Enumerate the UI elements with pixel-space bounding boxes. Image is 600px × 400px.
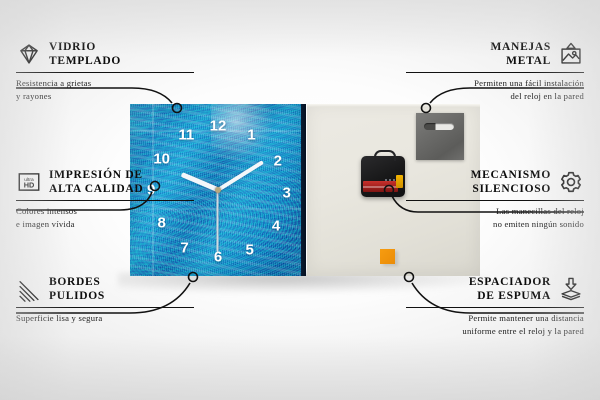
clock-numeral-3: 3 [282, 186, 290, 201]
desc-line-2: uniforme entre el reloj y la pared [406, 325, 584, 337]
aa-battery [363, 181, 397, 192]
battery-terminal [396, 175, 403, 188]
callout-manejas-metal: MANEJAS METAL Permiten una fácil instala… [406, 40, 584, 102]
diagonal-lines-icon [16, 276, 42, 302]
battery-stripe [363, 186, 397, 188]
divider [16, 72, 194, 73]
clock-numeral-12: 12 [210, 119, 227, 134]
back-panel-top-edge [307, 104, 480, 107]
title-line-2: PULIDOS [49, 289, 105, 303]
callout-title: BORDES PULIDOS [49, 275, 105, 303]
desc-line-1: Permiten una fácil instalación [406, 77, 584, 89]
callout-description: Resistencia a grietas y rayones [16, 77, 194, 102]
callout-vidrio-templado: VIDRIO TEMPLADO Resistencia a grietas y … [16, 40, 194, 102]
title-line-1: ESPACIADOR [469, 275, 551, 289]
diamond-icon [16, 41, 42, 67]
callout-title: MANEJAS METAL [491, 40, 552, 68]
hand-center-cap [215, 187, 221, 193]
title-line-1: BORDES [49, 275, 105, 289]
clock-numeral-7: 7 [180, 241, 188, 256]
panel-edge [301, 104, 306, 276]
divider [16, 307, 194, 308]
desc-line-2: e imagen vívida [16, 218, 194, 230]
foam-spacer [380, 249, 395, 264]
callout-bordes-pulidos: BORDES PULIDOS Superficie lisa y segura [16, 275, 194, 325]
callout-header: MECANISMO SILENCIOSO [406, 168, 584, 196]
movement-hook [374, 150, 396, 161]
divider [406, 72, 584, 73]
callout-title: VIDRIO TEMPLADO [49, 40, 121, 68]
clock-numeral-1: 1 [247, 127, 255, 142]
title-line-2: SILENCIOSO [471, 182, 551, 196]
desc-line-1: Resistencia a grietas [16, 77, 194, 89]
svg-text:HD: HD [24, 181, 35, 190]
quartz-movement-box [361, 156, 405, 197]
callout-description: Colores intensos e imagen vívida [16, 205, 194, 230]
gear-icon [558, 169, 584, 195]
callout-header: MANEJAS METAL [406, 40, 584, 68]
divider [16, 200, 194, 201]
callout-header: ultra HD IMPRESIÓN DE ALTA CALIDAD [16, 168, 194, 196]
desc-line-2: no emiten ningún sonido [406, 218, 584, 230]
desc-line-1: Las manecillas del reloj [406, 205, 584, 217]
callout-impresion-alta-calidad: ultra HD IMPRESIÓN DE ALTA CALIDAD Color… [16, 168, 194, 230]
title-line-2: ALTA CALIDAD [49, 182, 143, 196]
clock-numeral-11: 11 [178, 127, 194, 142]
infographic-canvas: 12 1 2 3 4 5 6 7 8 9 10 11 [0, 0, 600, 400]
callout-description: Permite mantener una distancia uniforme … [406, 312, 584, 337]
callout-header: ESPACIADOR DE ESPUMA [406, 275, 584, 303]
title-line-1: MECANISMO [471, 168, 551, 182]
hanger-slot [424, 123, 455, 130]
clock-numeral-5: 5 [246, 243, 254, 258]
metal-hanger-plate [416, 113, 464, 160]
title-line-2: TEMPLADO [49, 54, 121, 68]
callout-title: MECANISMO SILENCIOSO [471, 168, 551, 196]
title-line-1: VIDRIO [49, 40, 121, 54]
divider [406, 307, 584, 308]
desc-line-2: del reloj en la pared [406, 90, 584, 102]
callout-header: VIDRIO TEMPLADO [16, 40, 194, 68]
desc-line-1: Permite mantener una distancia [406, 312, 584, 324]
picture-frame-icon [558, 41, 584, 67]
callout-description: Permiten una fácil instalación del reloj… [406, 77, 584, 102]
desc-line-2: y rayones [16, 90, 194, 102]
callout-espaciador-de-espuma: ESPACIADOR DE ESPUMA Permite mantener un… [406, 275, 584, 337]
callout-header: BORDES PULIDOS [16, 275, 194, 303]
ultra-hd-icon: ultra HD [16, 169, 42, 195]
divider [406, 200, 584, 201]
clock-numeral-10: 10 [153, 152, 170, 167]
layers-arrow-icon [558, 276, 584, 302]
desc-line-1: Superficie lisa y segura [16, 312, 194, 324]
clock-numeral-4: 4 [272, 219, 280, 234]
title-line-2: METAL [491, 54, 552, 68]
callout-mecanismo-silencioso: MECANISMO SILENCIOSO Las manecillas del … [406, 168, 584, 230]
desc-line-1: Colores intensos [16, 205, 194, 217]
callout-description: Superficie lisa y segura [16, 312, 194, 324]
callout-title: ESPACIADOR DE ESPUMA [469, 275, 551, 303]
clock-numeral-2: 2 [274, 153, 282, 168]
callout-description: Las manecillas del reloj no emiten ningú… [406, 205, 584, 230]
title-line-2: DE ESPUMA [469, 289, 551, 303]
title-line-1: MANEJAS [491, 40, 552, 54]
callout-title: IMPRESIÓN DE ALTA CALIDAD [49, 168, 143, 196]
title-line-1: IMPRESIÓN DE [49, 168, 143, 182]
